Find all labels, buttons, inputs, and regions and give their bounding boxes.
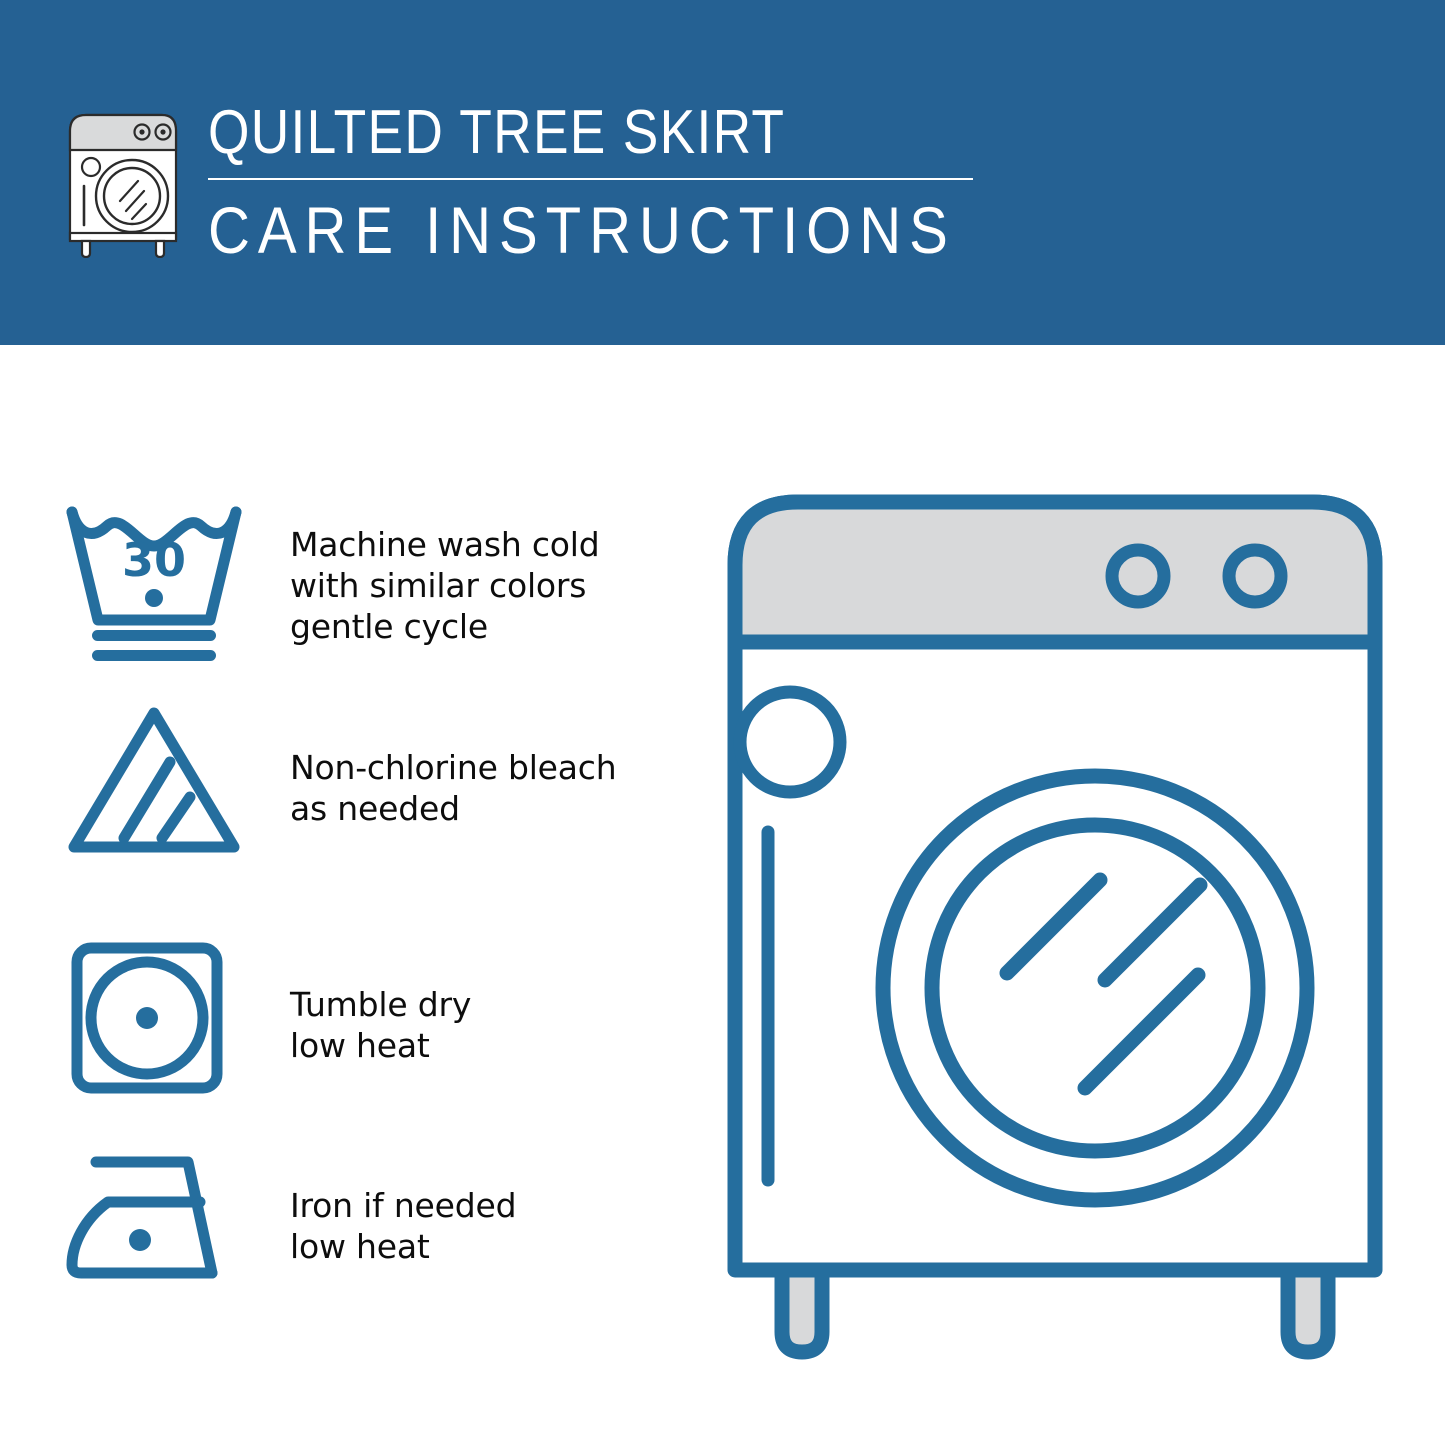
care-row-tumble-dry: Tumble dry low heat	[0, 940, 700, 1140]
iron-low-heat-icon	[62, 1145, 247, 1315]
title-divider	[208, 178, 973, 180]
care-row-iron: Iron if needed low heat	[0, 1145, 700, 1345]
care-row-bleach: Non-chlorine bleach as needed	[0, 705, 700, 905]
wash-tub-30-gentle-icon: 30	[62, 500, 247, 670]
care-label-line: Non-chlorine bleach	[290, 747, 690, 788]
care-label-bleach: Non-chlorine bleach as needed	[290, 747, 690, 829]
care-label-line: as needed	[290, 788, 690, 829]
care-label-line: Machine wash cold	[290, 524, 690, 565]
tumble-dry-low-icon	[62, 940, 247, 1110]
header-band: QUILTED TREE SKIRT CARE INSTRUCTIONS	[0, 0, 1445, 345]
header-title-group: QUILTED TREE SKIRT CARE INSTRUCTIONS	[208, 100, 1028, 266]
svg-text:30: 30	[122, 533, 186, 587]
care-label-line: gentle cycle	[290, 606, 690, 647]
care-label-wash: Machine wash cold with similar colors ge…	[290, 524, 690, 647]
header-washing-machine-logo-icon	[62, 103, 184, 258]
care-label-tumble-dry: Tumble dry low heat	[290, 984, 690, 1066]
washer-foot-right	[1288, 1270, 1328, 1352]
care-label-line: with similar colors	[290, 565, 690, 606]
care-label-line: Iron if needed	[290, 1185, 690, 1226]
page-subtitle: CARE INSTRUCTIONS	[208, 194, 930, 266]
care-label-line: Tumble dry	[290, 984, 690, 1025]
page-title: QUILTED TREE SKIRT	[208, 100, 913, 166]
front-load-washing-machine-illustration	[710, 480, 1400, 1380]
care-label-line: low heat	[290, 1226, 690, 1267]
care-row-wash: 30 Machine wash cold with similar colors…	[0, 500, 700, 700]
non-chlorine-bleach-triangle-icon	[62, 705, 247, 875]
washer-foot-left	[782, 1270, 822, 1352]
care-label-iron: Iron if needed low heat	[290, 1185, 690, 1267]
care-label-line: low heat	[290, 1025, 690, 1066]
